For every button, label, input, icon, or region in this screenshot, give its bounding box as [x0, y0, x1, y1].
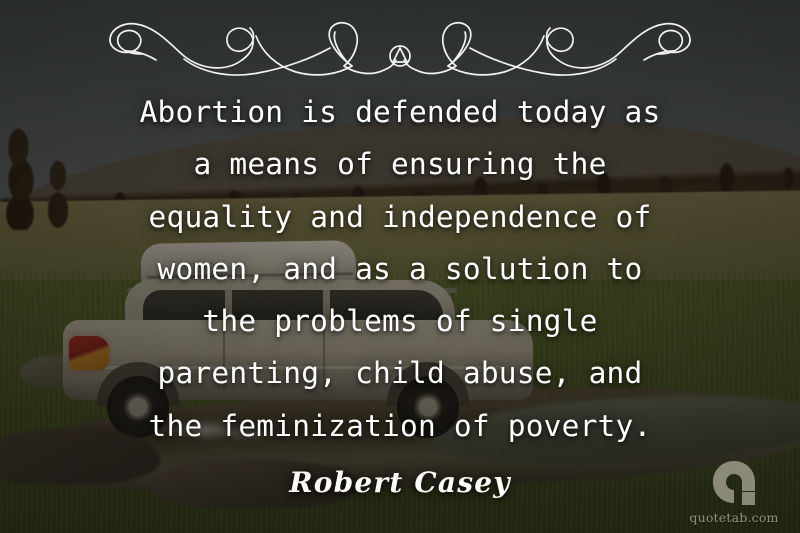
quote-text: Abortion is defended today as a means of… — [30, 86, 770, 452]
decorative-flourish-icon — [80, 18, 720, 80]
quotetab-q-logo-icon — [709, 458, 759, 508]
quote-card: EXPLORE — [0, 0, 800, 533]
quote-author: Robert Casey — [0, 466, 800, 499]
watermark[interactable]: quotetab.com — [682, 449, 786, 525]
watermark-site-label: quotetab.com — [689, 510, 778, 525]
